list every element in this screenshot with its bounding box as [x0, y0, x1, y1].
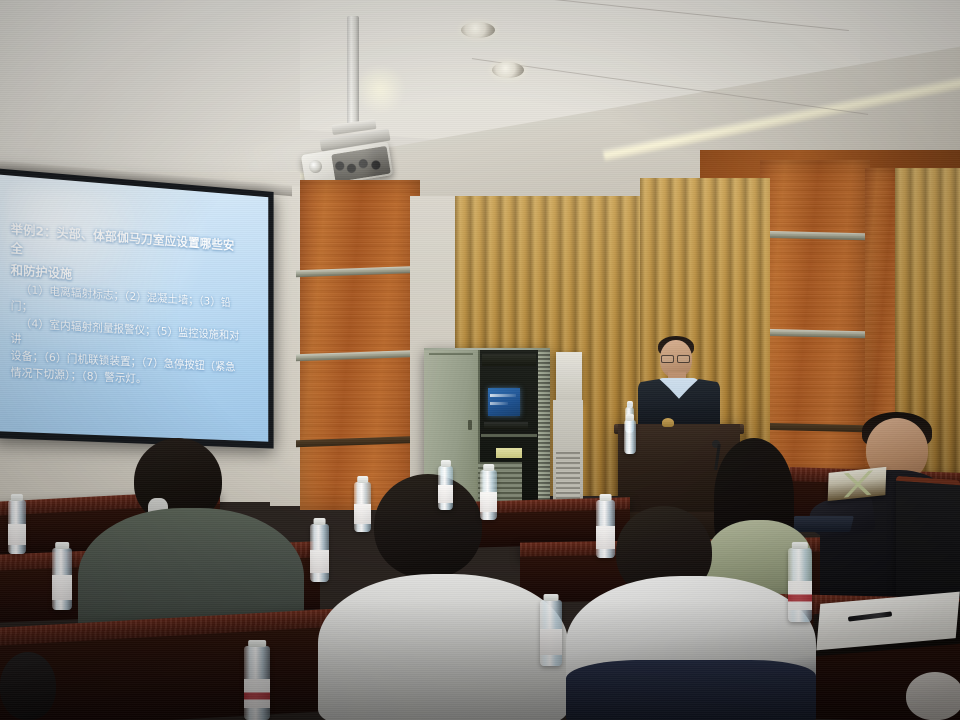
- water-bottle: [438, 466, 453, 510]
- bottle-cap: [483, 464, 495, 471]
- bottle-cap: [55, 542, 69, 549]
- water-bottle: [540, 600, 562, 666]
- attendee-edge-left-head: [0, 652, 56, 720]
- attendee-center-head: [374, 474, 482, 578]
- water-bottle: [596, 500, 615, 558]
- glasses-icon: [661, 355, 690, 361]
- water-bottle: [244, 646, 270, 720]
- cabinet-rack-slot: [482, 354, 536, 366]
- bottle-cap: [248, 640, 266, 647]
- bottle-cap: [599, 494, 612, 501]
- recessed-downlight-icon: [492, 62, 524, 78]
- monitor-text-line: [490, 394, 516, 397]
- slide-content: 举例2：头部、体部伽马刀室应设置哪些安全 和防护设施 （1）电离辐射标志；（2）…: [11, 219, 245, 392]
- bottle-label: [52, 575, 72, 600]
- projection-screen: 举例2：头部、体部伽马刀室应设置哪些安全 和防护设施 （1）电离辐射标志；（2）…: [0, 168, 274, 449]
- bottle-cap: [11, 494, 23, 501]
- water-bottle: [480, 470, 497, 520]
- bottle-cap: [626, 414, 634, 421]
- cabinet-keyboard[interactable]: [484, 422, 528, 429]
- monitor-text-line: [490, 402, 508, 405]
- bottle-label: [438, 485, 453, 503]
- cabinet-handle-icon[interactable]: [468, 420, 472, 430]
- bottle-cap: [544, 594, 559, 601]
- bottle-label: [310, 550, 329, 573]
- air-conditioner-top: [556, 352, 582, 404]
- water-bottle: [310, 524, 329, 582]
- chair-back: [896, 476, 960, 605]
- recessed-downlight-icon: [461, 22, 495, 38]
- bottle-label: [354, 504, 371, 524]
- cabinet-yellow-label: [496, 448, 522, 458]
- bottle-label: [480, 492, 497, 512]
- water-bottle: [354, 482, 371, 532]
- water-bottle: [8, 500, 26, 554]
- bottle-cap: [313, 518, 326, 525]
- projector-mount-pole: [347, 16, 359, 128]
- cabinet-shelf: [481, 434, 537, 437]
- bottle-label: [596, 526, 615, 549]
- bottle-cap: [792, 542, 808, 549]
- bottle-cap: [357, 476, 369, 483]
- screen-surface: 举例2：头部、体部伽马刀室应设置哪些安全 和防护设施 （1）电离辐射标志；（2）…: [0, 174, 268, 441]
- attendee-edge-right-shoulder: [906, 672, 960, 720]
- bottle-label: [8, 524, 26, 546]
- attendee-hoodie-navy-sleeve: [566, 660, 816, 720]
- bottle-label: [540, 629, 562, 655]
- bottle-cap: [626, 401, 632, 408]
- bottle-label: [244, 679, 270, 709]
- attendee-center-body: [318, 574, 568, 720]
- bottle-cap: [440, 460, 450, 467]
- projector-lamp-glow: [352, 66, 408, 112]
- water-bottle: [788, 548, 812, 622]
- cabinet-door-seam: [429, 353, 473, 355]
- cabinet-perforated-column: [538, 350, 550, 508]
- lectern-object: [662, 418, 674, 427]
- bottle-label: [788, 581, 812, 611]
- wood-wall-panel: [300, 180, 420, 510]
- lecture-room-photo: 举例2：头部、体部伽马刀室应设置哪些安全 和防护设施 （1）电离辐射标志；（2）…: [0, 0, 960, 720]
- water-bottle: [52, 548, 72, 610]
- dark-device: [790, 516, 854, 532]
- water-bottle: [624, 420, 636, 454]
